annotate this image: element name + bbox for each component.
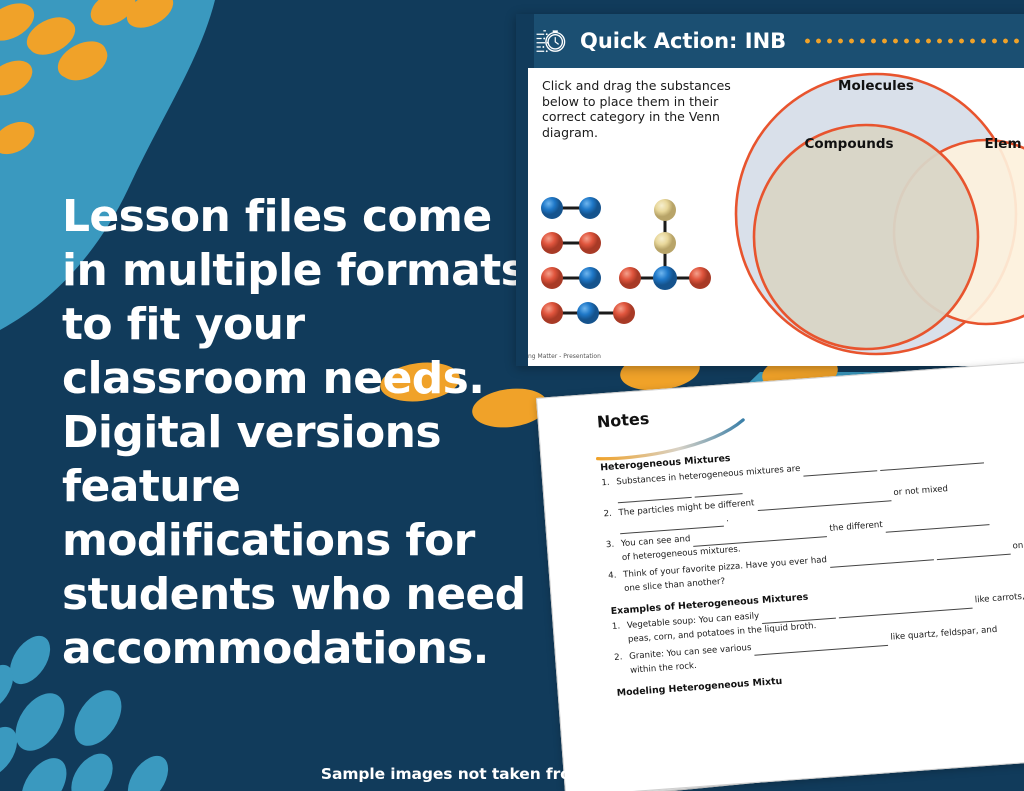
item-text: within the rock. [630,660,697,675]
item-text: like quartz, feldspar, and [890,625,997,643]
page-headline-2: Digital versions feature modifications f… [62,406,532,676]
atom-group [541,197,711,324]
item-text: or not mixed [893,484,948,498]
item-number: 3. [606,539,615,553]
fill-blank[interactable] [617,489,691,503]
headline-block-2: Digital versions feature modifications f… [62,406,532,676]
item-text: on [1012,541,1023,552]
molecule-tokens[interactable] [530,188,750,328]
item-number: 2. [603,508,612,522]
page-headline-1: Lesson files come in multiple formats to… [62,190,532,406]
slide-instructions: Click and drag the substances below to p… [542,78,747,140]
headline-block-1: Lesson files come in multiple formats to… [62,190,532,406]
quick-action-slide: Quick Action: INB Click and drag the sub… [516,14,1024,366]
venn-circle-compounds [754,125,978,349]
notes-worksheet: Notes Heterogeneous Mixtures [536,398,1024,791]
fill-blank[interactable] [754,636,888,655]
fill-blank[interactable] [838,599,972,618]
fill-blank[interactable] [694,485,743,497]
slide-footer-text: ng Matter - Presentation [528,353,601,360]
dotted-rule [802,38,1024,44]
slide-header: Quick Action: INB [516,14,1024,68]
item-text: . [726,514,729,524]
item-text: You can see and [621,534,691,549]
venn-label-molecules: Molecules [838,78,914,94]
venn-label-compounds: Compounds [804,136,893,152]
slide-body: Click and drag the substances below to p… [516,68,1024,366]
fill-blank[interactable] [803,462,877,476]
fill-blank[interactable] [693,528,827,547]
fill-blank[interactable] [830,551,934,568]
fill-blank[interactable] [936,545,1010,559]
promo-graphic: Lesson files come in multiple formats to… [0,0,1024,791]
worksheet-page-front: Notes Heterogeneous Mixtures [536,361,1024,791]
fill-blank[interactable] [880,454,984,471]
item-number: 2. [614,651,623,665]
item-text: the different [829,520,883,534]
slide-title: Quick Action: INB [580,29,786,53]
item-number: 1. [601,477,610,491]
stopwatch-icon [534,24,568,58]
item-text: like carrots, [974,592,1024,606]
fill-blank[interactable] [885,516,989,533]
sample-images-disclaimer: Sample images not taken from this produc… [0,765,1024,783]
venn-diagram[interactable]: Molecules Compounds Elem [731,62,1024,362]
fill-blank[interactable] [757,492,891,511]
item-number: 4. [608,570,617,584]
item-text: Granite: You can see various [629,643,752,662]
item-number: 1. [612,620,621,634]
venn-label-elements: Elem [984,136,1021,152]
